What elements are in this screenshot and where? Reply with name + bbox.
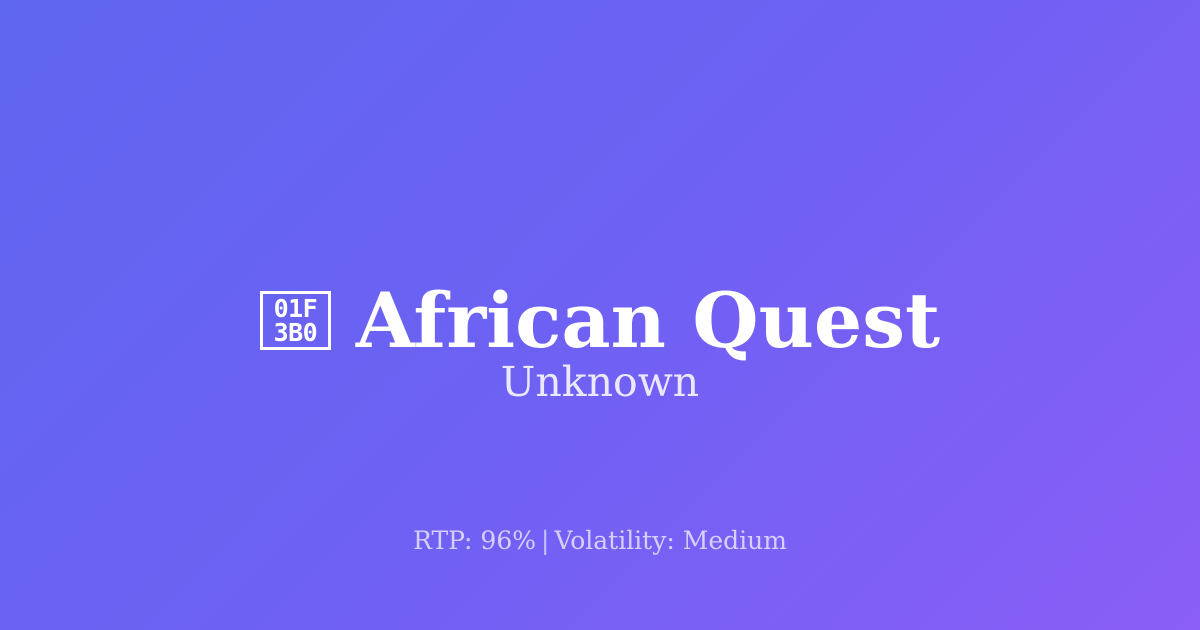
slot-machine-emoji-missing-glyph-icon: 01F 3B0: [260, 291, 331, 350]
stats-separator: |: [536, 526, 554, 555]
provider-label: Unknown: [0, 362, 1200, 403]
game-title: African Quest: [356, 283, 940, 359]
game-stats-line: RTP: 96%|Volatility: Medium: [0, 528, 1200, 553]
volatility-stat: Volatility: Medium: [554, 526, 786, 555]
tofu-hex-bottom: 3B0: [274, 321, 318, 346]
game-og-card: 01F 3B0 African Quest Unknown RTP: 96%|V…: [0, 0, 1200, 630]
rtp-stat: RTP: 96%: [413, 526, 536, 555]
